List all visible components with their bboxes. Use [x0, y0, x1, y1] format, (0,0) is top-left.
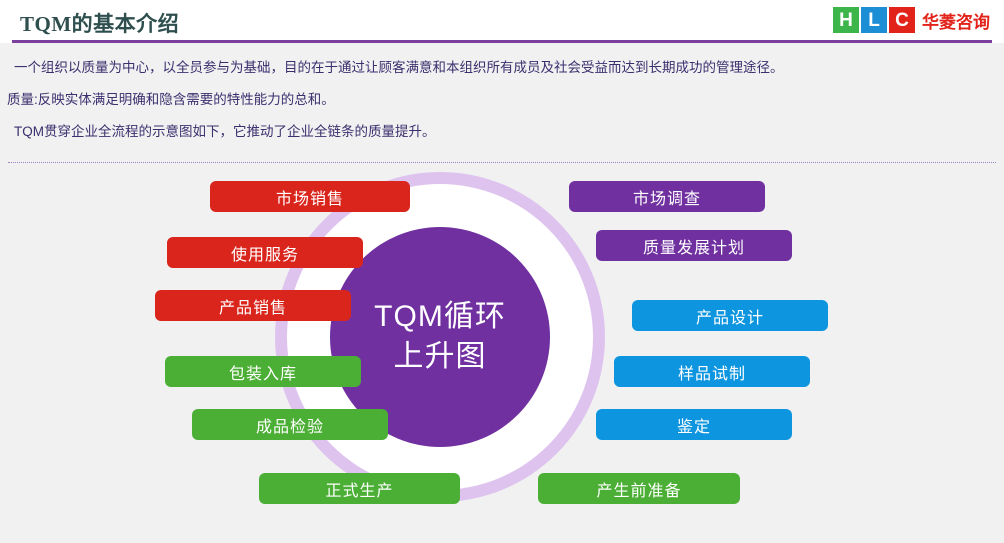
page-header: TQM的基本介绍 H L C 华菱咨询: [0, 0, 1004, 43]
cycle-node-label: 包装入库: [229, 360, 297, 384]
cycle-node-label: 产品设计: [696, 304, 764, 328]
logo-letter-c-icon: C: [889, 7, 915, 33]
cycle-node[interactable]: 产生前准备: [538, 473, 740, 504]
cycle-node[interactable]: 产品销售: [155, 290, 351, 321]
intro-section: 一个组织以质量为中心，以全员参与为基础，目的在于通过让顾客满意和本组织所有成员及…: [0, 43, 1004, 163]
logo-letter-h-icon: H: [833, 7, 859, 33]
tqm-cycle-diagram: TQM循环 上升图 市场销售使用服务产品销售包装入库成品检验正式生产产生前准备鉴…: [0, 164, 1004, 518]
cycle-node-label: 产品销售: [219, 294, 287, 318]
cycle-node-label: 成品检验: [256, 413, 324, 437]
cycle-node-label: 正式生产: [325, 477, 393, 501]
cycle-node[interactable]: 使用服务: [167, 237, 363, 268]
cycle-node-label: 鉴定: [677, 413, 711, 437]
cycle-node[interactable]: 鉴定: [596, 409, 792, 440]
cycle-center-label-line2: 上升图: [374, 337, 506, 377]
cycle-node[interactable]: 正式生产: [259, 473, 460, 504]
logo-letter-l-icon: L: [861, 7, 887, 33]
cycle-node[interactable]: 市场销售: [210, 181, 410, 212]
cycle-node-label: 样品试制: [678, 360, 746, 384]
logo-brand-name: 华菱咨询: [922, 8, 990, 33]
cycle-node[interactable]: 质量发展计划: [596, 230, 792, 261]
cycle-node-label: 市场销售: [276, 185, 344, 209]
cycle-node[interactable]: 成品检验: [192, 409, 388, 440]
cycle-node-label: 市场调查: [633, 185, 701, 209]
company-logo: H L C 华菱咨询: [833, 6, 990, 34]
cycle-node[interactable]: 市场调查: [569, 181, 765, 212]
logo-letter-blocks: H L C: [833, 7, 917, 33]
cycle-node-label: 质量发展计划: [643, 234, 745, 258]
cycle-node-label: 使用服务: [231, 241, 299, 265]
page-title: TQM的基本介绍: [20, 8, 179, 38]
intro-paragraph-quality: 质量:反映实体满足明确和隐含需要的特性能力的总和。: [7, 90, 335, 110]
cycle-node[interactable]: 包装入库: [165, 356, 361, 387]
cycle-node[interactable]: 产品设计: [632, 300, 828, 331]
cycle-node[interactable]: 样品试制: [614, 356, 810, 387]
intro-paragraph-diagram-lead: TQM贯穿企业全流程的示意图如下，它推动了企业全链条的质量提升。: [14, 122, 436, 142]
intro-paragraph-definition: 一个组织以质量为中心，以全员参与为基础，目的在于通过让顾客满意和本组织所有成员及…: [14, 58, 784, 78]
section-divider: [8, 162, 996, 163]
cycle-node-label: 产生前准备: [596, 477, 681, 501]
cycle-center-label: TQM循环 上升图: [374, 297, 506, 377]
page-root: TQM的基本介绍 H L C 华菱咨询 一个组织以质量为中心，以全员参与为基础，…: [0, 0, 1004, 543]
cycle-center-label-line1: TQM循环: [374, 297, 506, 337]
